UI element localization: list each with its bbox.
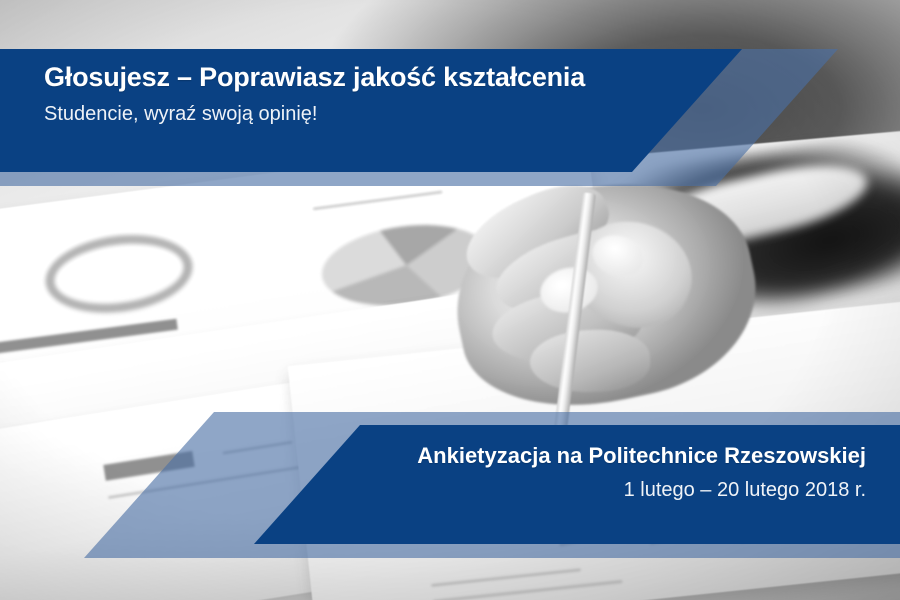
page-title: Głosujesz – Poprawiasz jakość kształceni… <box>44 62 684 93</box>
event-date-range: 1 lutego – 20 lutego 2018 r. <box>306 478 866 502</box>
headline-text-group: Głosujesz – Poprawiasz jakość kształceni… <box>44 62 684 126</box>
event-title: Ankietyzacja na Politechnice Rzeszowskie… <box>306 443 866 469</box>
promo-poster: Głosujesz – Poprawiasz jakość kształceni… <box>0 0 900 600</box>
page-subtitle: Studencie, wyraź swoją opinię! <box>44 102 684 126</box>
event-text-group: Ankietyzacja na Politechnice Rzeszowskie… <box>306 443 866 502</box>
